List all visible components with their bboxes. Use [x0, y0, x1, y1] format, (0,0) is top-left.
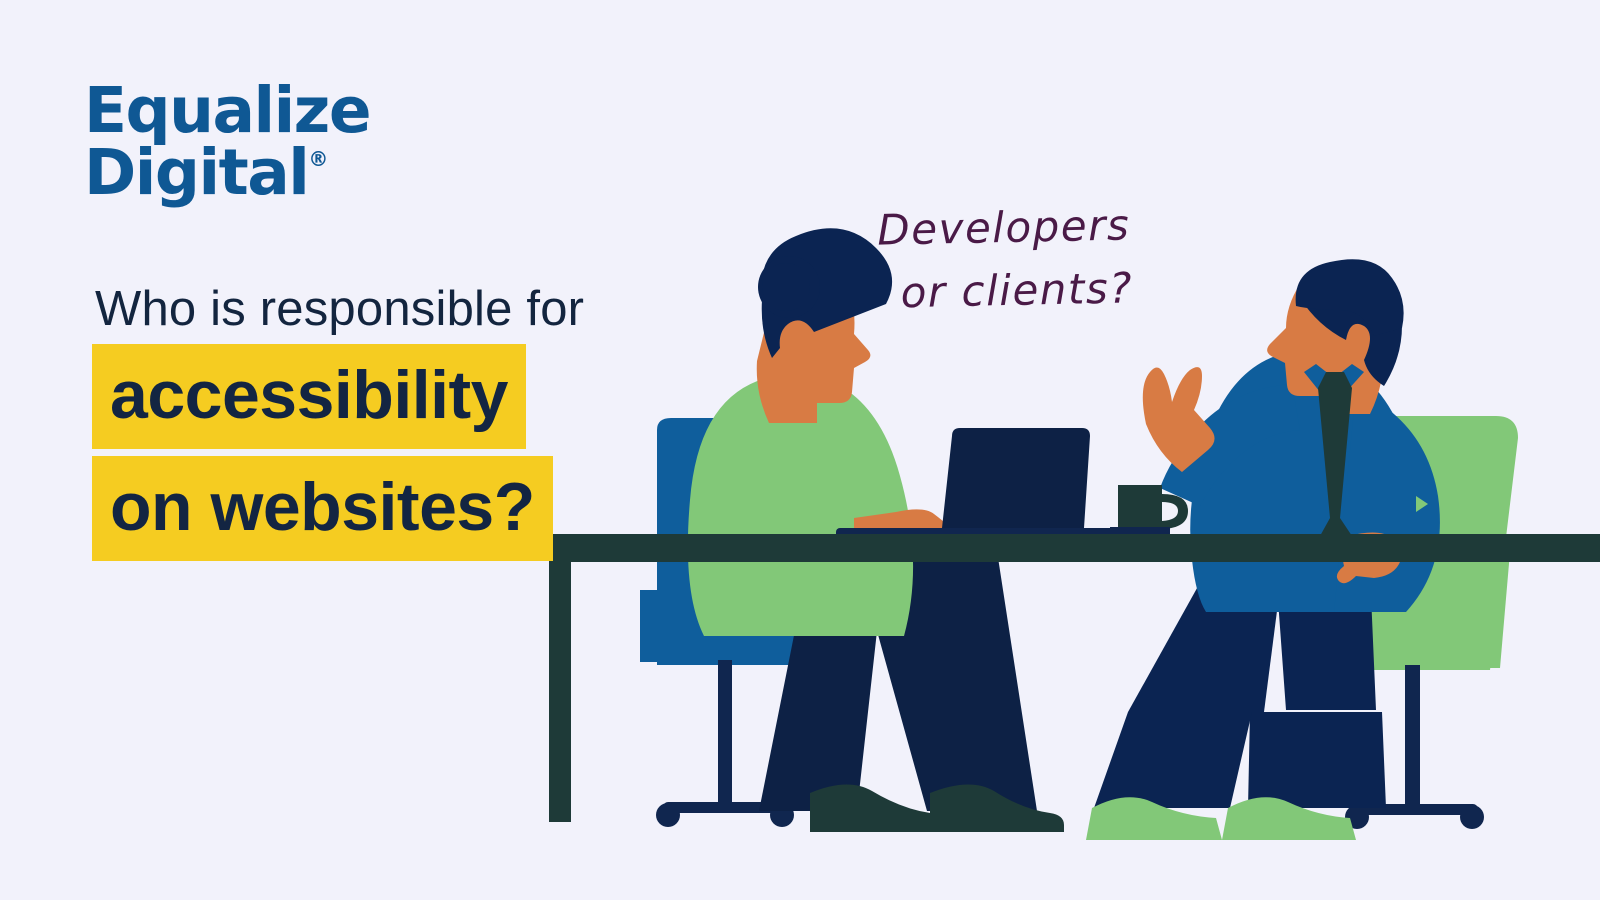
poster-canvas: Equalize Digital® Who is responsible for…: [0, 0, 1600, 900]
headline-row-2: accessibility: [92, 344, 732, 449]
handwritten-line-1: Developers: [877, 193, 1133, 261]
man-figure: [1086, 259, 1440, 840]
laptop: [836, 428, 1120, 539]
logo-line-equalize: Equalize: [84, 80, 370, 142]
headline-block: Who is responsible for accessibility on …: [92, 285, 732, 568]
green-armchair: [1330, 416, 1518, 829]
handwritten-question: Developers or clients?: [877, 193, 1134, 324]
headline-row-3: on websites?: [92, 456, 732, 561]
registered-mark-icon: ®: [308, 147, 328, 171]
logo-line-digital: Digital®: [84, 142, 370, 204]
logo-word-digital: Digital: [84, 136, 308, 209]
handwritten-line-2: or clients?: [878, 256, 1134, 324]
headline-line-2-highlight: accessibility: [92, 344, 526, 449]
brand-logo: Equalize Digital®: [84, 80, 370, 203]
desk: [549, 534, 1600, 822]
coffee-mug: [1110, 485, 1188, 535]
headline-line-1: Who is responsible for: [92, 285, 732, 334]
headline-line-3-highlight: on websites?: [92, 456, 553, 561]
